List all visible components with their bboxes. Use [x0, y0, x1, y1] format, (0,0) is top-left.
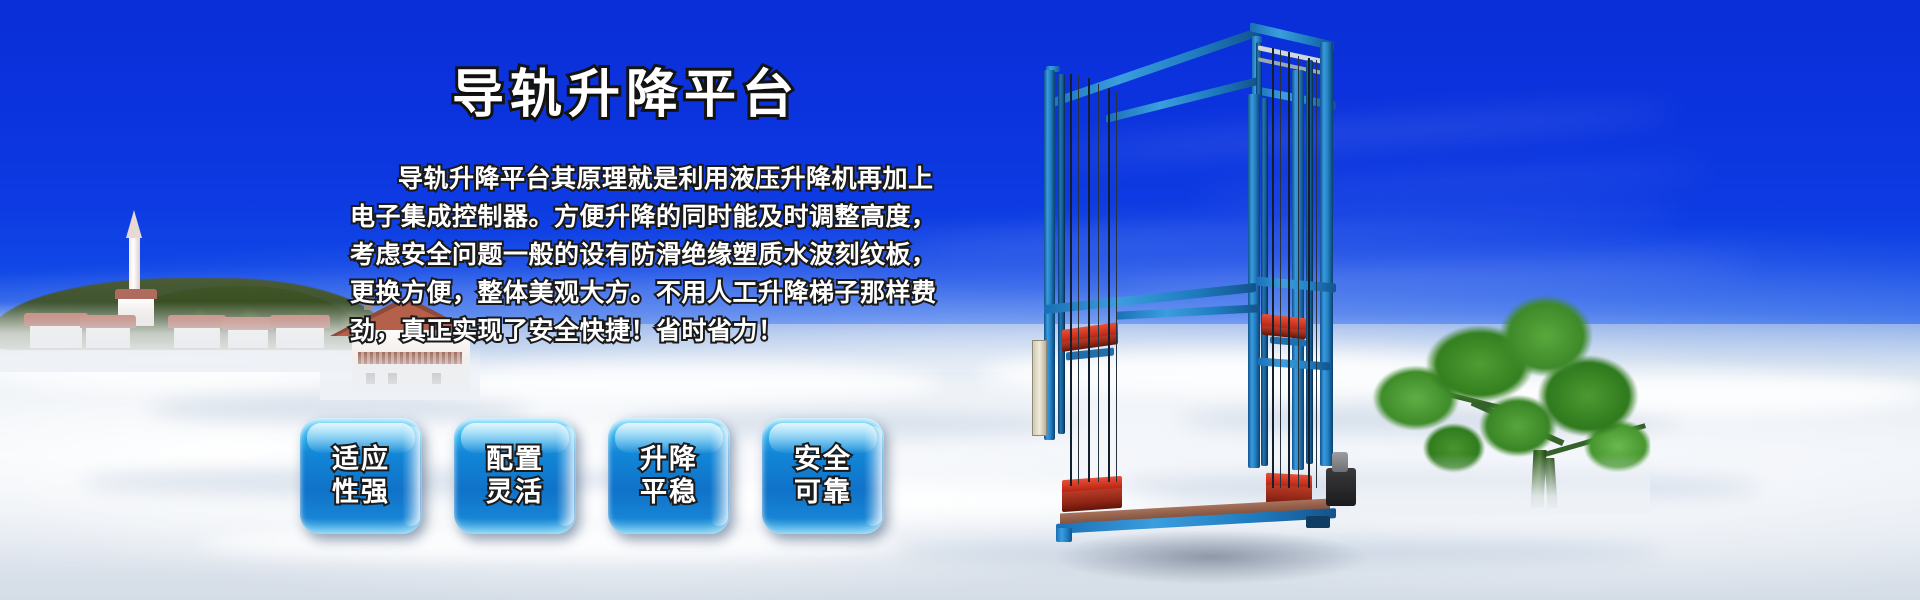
feature-button-label: 安全 可靠 [794, 443, 852, 509]
tree-mist-fade [1350, 454, 1650, 514]
feature-button-safety[interactable]: 安全 可靠 [762, 418, 884, 534]
feature-label-line2: 可靠 [794, 477, 852, 507]
feature-button-label: 升降 平稳 [640, 443, 698, 509]
feature-label-line2: 平稳 [640, 477, 698, 507]
feature-label-line2: 灵活 [486, 477, 544, 507]
platform-foot [1306, 516, 1330, 528]
feature-label-line1: 升降 [640, 444, 698, 474]
description-line: 劲，真正实现了安全快捷！省时省力！ [350, 312, 930, 350]
feature-label-line1: 安全 [794, 444, 852, 474]
platform-foot [1056, 528, 1072, 542]
product-image-guide-rail-lift [1020, 8, 1380, 580]
description-line: 更换方便，整体美观大方。不用人工升降梯子那样费 [350, 274, 930, 312]
feature-button-label: 配置 灵活 [486, 443, 544, 509]
mast-front-left-inner [1058, 74, 1065, 434]
product-banner: 导轨升降平台 导轨升降平台其原理就是利用液压升降机再加上 电子集成控制器。方便升… [0, 0, 1920, 600]
description-line: 考虑安全问题一般的设有防滑绝缘塑质水波刻纹板， [350, 236, 930, 274]
motor-cylinder [1332, 452, 1348, 472]
chalet-mist-fade [320, 348, 480, 400]
page-title: 导轨升降平台 [452, 52, 800, 127]
frame-top-left-rail [1044, 27, 1260, 110]
feature-button-group: 适应 性强 配置 灵活 升降 平稳 安全 可靠 [300, 418, 884, 534]
mast-front-right [1320, 42, 1333, 466]
description-line: 导轨升降平台其原理就是利用液压升降机再加上 [350, 160, 930, 198]
frame-top-inner-rail [1106, 77, 1258, 123]
control-box [1032, 340, 1047, 436]
feature-label-line2: 性强 [332, 477, 390, 507]
product-shadow [1056, 530, 1366, 584]
feature-button-smooth-lifting[interactable]: 升降 平稳 [608, 418, 730, 534]
description-line: 电子集成控制器。方便升降的同时能及时调整高度， [350, 198, 930, 236]
hydraulic-motor [1326, 468, 1356, 506]
tree-scenery [1350, 278, 1650, 508]
feature-label-line1: 配置 [486, 444, 544, 474]
description-text: 导轨升降平台其原理就是利用液压升降机再加上 电子集成控制器。方便升降的同时能及时… [350, 160, 930, 350]
feature-button-label: 适应 性强 [332, 443, 390, 509]
mid-rail-inner [1116, 304, 1260, 320]
feature-button-configuration[interactable]: 配置 灵活 [454, 418, 576, 534]
feature-button-adaptability[interactable]: 适应 性强 [300, 418, 422, 534]
feature-label-line1: 适应 [332, 444, 390, 474]
